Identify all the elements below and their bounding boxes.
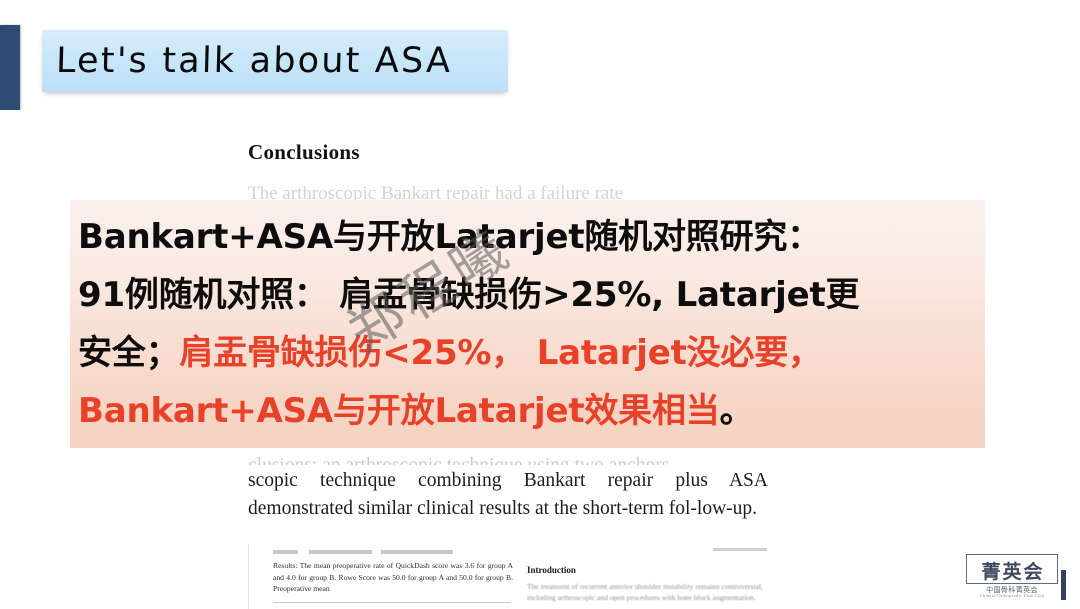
overlay-line-4-segment-1: Bankart+ASA与开放Latarjet效果相当 xyxy=(78,391,720,431)
paper-clipped-line: clusions: an arthroscopic technique usin… xyxy=(248,452,768,465)
logo-subtitle-en: Chinese Orthopaedic Elite Club xyxy=(962,593,1062,598)
overlay-line-2-segment-1: 91例随机对照： 肩盂骨缺损伤>25%, Latarjet更 xyxy=(78,275,859,315)
overlay-summary-text: Bankart+ASA与开放Latarjet随机对照研究：91例随机对照： 肩盂… xyxy=(78,208,978,440)
page-title: Let's talk about ASA xyxy=(42,44,453,79)
thumbnail-introduction-heading: Introduction xyxy=(527,565,576,575)
slide-title-box: Let's talk about ASA xyxy=(42,30,508,92)
logo-mark-text: 菁英会 xyxy=(967,555,1059,585)
logo-divider xyxy=(1061,570,1066,600)
highlight-overlay: Bankart+ASA与开放Latarjet随机对照研究：91例随机对照： 肩盂… xyxy=(70,200,985,448)
slide-canvas: Let's talk about ASA Conclusions The art… xyxy=(0,0,1080,609)
thumbnail-introduction-body: The treatment of recurrent anterior shou… xyxy=(527,581,763,603)
thumbnail-running-head-right xyxy=(713,548,767,551)
paper-section-heading: Conclusions xyxy=(248,140,360,165)
overlay-line-3: 安全；肩盂骨缺损伤<25%， Latarjet没必要， xyxy=(78,324,978,382)
paper-body-text: clusions: an arthroscopic technique usin… xyxy=(248,452,768,523)
overlay-line-4-segment-2: 。 xyxy=(720,391,754,431)
overlay-line-1: Bankart+ASA与开放Latarjet随机对照研究： xyxy=(78,208,978,266)
thumbnail-left-column: Results: The mean preoperative rate of Q… xyxy=(273,560,513,595)
overlay-line-3-segment-1: 安全； xyxy=(78,333,179,373)
article-thumbnail-page: Results: The mean preoperative rate of Q… xyxy=(248,544,809,609)
thumbnail-running-head xyxy=(273,550,453,554)
organization-logo: 菁英会 中国骨科菁英会 Chinese Orthopaedic Elite Cl… xyxy=(962,552,1066,600)
logo-frame: 菁英会 xyxy=(966,554,1058,584)
thumbnail-rule xyxy=(273,602,511,603)
overlay-line-4: Bankart+ASA与开放Latarjet效果相当。 xyxy=(78,382,978,440)
paper-body-sentence: scopic technique combining Bankart repai… xyxy=(248,470,768,519)
overlay-line-2: 91例随机对照： 肩盂骨缺损伤>25%, Latarjet更 xyxy=(78,266,978,324)
overlay-line-1-segment-1: Bankart+ASA与开放Latarjet随机对照研究： xyxy=(78,217,821,257)
overlay-line-3-segment-2: 肩盂骨缺损伤<25%， Latarjet没必要， xyxy=(179,333,821,373)
